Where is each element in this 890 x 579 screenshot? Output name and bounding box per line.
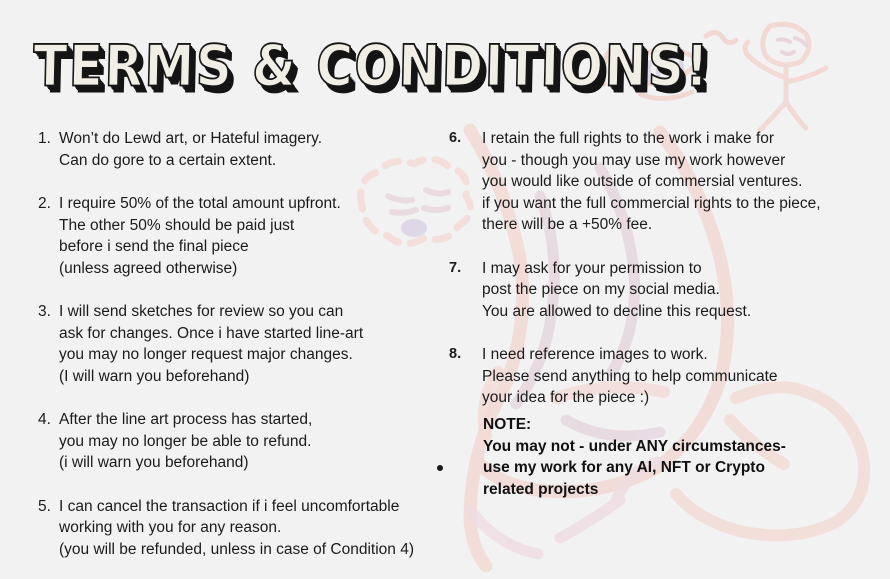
term-text: I retain the full rights to the work i m… <box>482 128 861 236</box>
term-line: Please send anything to help communicate <box>482 366 861 388</box>
terms-left-column: 1. Won’t do Lewd art, or Hateful imagery… <box>38 128 438 560</box>
term-line: I may ask for your permission to <box>482 258 861 280</box>
note-heading: NOTE: <box>483 414 883 436</box>
term-line: if you want the full commercial rights t… <box>482 193 861 215</box>
term-line: You are allowed to decline this request. <box>482 301 861 323</box>
term-number: 4. <box>38 409 59 431</box>
note-line: use my work for any AI, NFT or Crypto <box>483 457 883 479</box>
term-line: After the line art process has started, <box>59 409 438 431</box>
term-item-8: 8. I need reference images to work. Plea… <box>449 344 861 409</box>
term-item-3: 3. I will send sketches for review so yo… <box>38 301 438 387</box>
term-line: I will send sketches for review so you c… <box>59 301 438 323</box>
term-item-2: 2. I require 50% of the total amount upf… <box>38 193 438 279</box>
term-line: (i will warn you beforehand) <box>59 452 438 474</box>
term-line: post the piece on my social media. <box>482 279 861 301</box>
term-text: After the line art process has started, … <box>59 409 438 474</box>
term-item-5: 5. I can cancel the transaction if i fee… <box>38 496 438 561</box>
term-line: I need reference images to work. <box>482 344 861 366</box>
term-text: I need reference images to work. Please … <box>482 344 861 409</box>
note-block: NOTE: You may not - under ANY circumstan… <box>483 414 883 500</box>
note-line: related projects <box>483 479 883 501</box>
term-text: I may ask for your permission to post th… <box>482 258 861 323</box>
term-number: 7. <box>449 258 482 280</box>
term-line: (unless agreed otherwise) <box>59 258 438 280</box>
term-line: I retain the full rights to the work i m… <box>482 128 861 150</box>
term-line: you may no longer be able to refund. <box>59 431 438 453</box>
term-text: I will send sketches for review so you c… <box>59 301 438 387</box>
page-title-wrapper: TERMS & CONDITIONS! <box>34 33 554 105</box>
term-line: Can do gore to a certain extent. <box>59 150 438 172</box>
term-line: ask for changes. Once i have started lin… <box>59 323 438 345</box>
stick-figure-doodle <box>745 24 826 130</box>
term-text: I can cancel the transaction if i feel u… <box>59 496 438 561</box>
page-title: TERMS & CONDITIONS! <box>32 33 554 99</box>
term-item-1: 1. Won’t do Lewd art, or Hateful imagery… <box>38 128 438 171</box>
note-bullet-icon <box>437 465 443 471</box>
terms-and-conditions-page: TERMS & CONDITIONS! 1. Won’t do Lewd art… <box>0 0 890 579</box>
term-item-4: 4. After the line art process has starte… <box>38 409 438 474</box>
term-text: Won’t do Lewd art, or Hateful imagery. C… <box>59 128 438 171</box>
term-line: I require 50% of the total amount upfron… <box>59 193 438 215</box>
term-item-7: 7. I may ask for your permission to post… <box>449 258 861 323</box>
term-item-6: 6. I retain the full rights to the work … <box>449 128 861 236</box>
term-line: you would like outside of commersial ven… <box>482 171 861 193</box>
term-line: Won’t do Lewd art, or Hateful imagery. <box>59 128 438 150</box>
term-line: there will be a +50% fee. <box>482 214 861 236</box>
terms-right-column: 6. I retain the full rights to the work … <box>449 128 861 409</box>
note-line: You may not - under ANY circumstances- <box>483 436 883 458</box>
term-number: 2. <box>38 193 59 215</box>
term-line: (I will warn you beforehand) <box>59 366 438 388</box>
term-line: (you will be refunded, unless in case of… <box>59 539 438 561</box>
term-text: I require 50% of the total amount upfron… <box>59 193 438 279</box>
term-line: working with you for any reason. <box>59 517 438 539</box>
term-line: you may no longer request major changes. <box>59 344 438 366</box>
term-number: 8. <box>449 344 482 366</box>
term-number: 3. <box>38 301 59 323</box>
term-line: before i send the final piece <box>59 236 438 258</box>
term-line: I can cancel the transaction if i feel u… <box>59 496 438 518</box>
term-line: you - though you may use my work however <box>482 150 861 172</box>
term-number: 6. <box>449 128 482 150</box>
term-line: your idea for the piece :) <box>482 387 861 409</box>
term-number: 1. <box>38 128 59 150</box>
stick-figure-face <box>778 38 806 54</box>
term-line: The other 50% should be paid just <box>59 215 438 237</box>
term-number: 5. <box>38 496 59 518</box>
